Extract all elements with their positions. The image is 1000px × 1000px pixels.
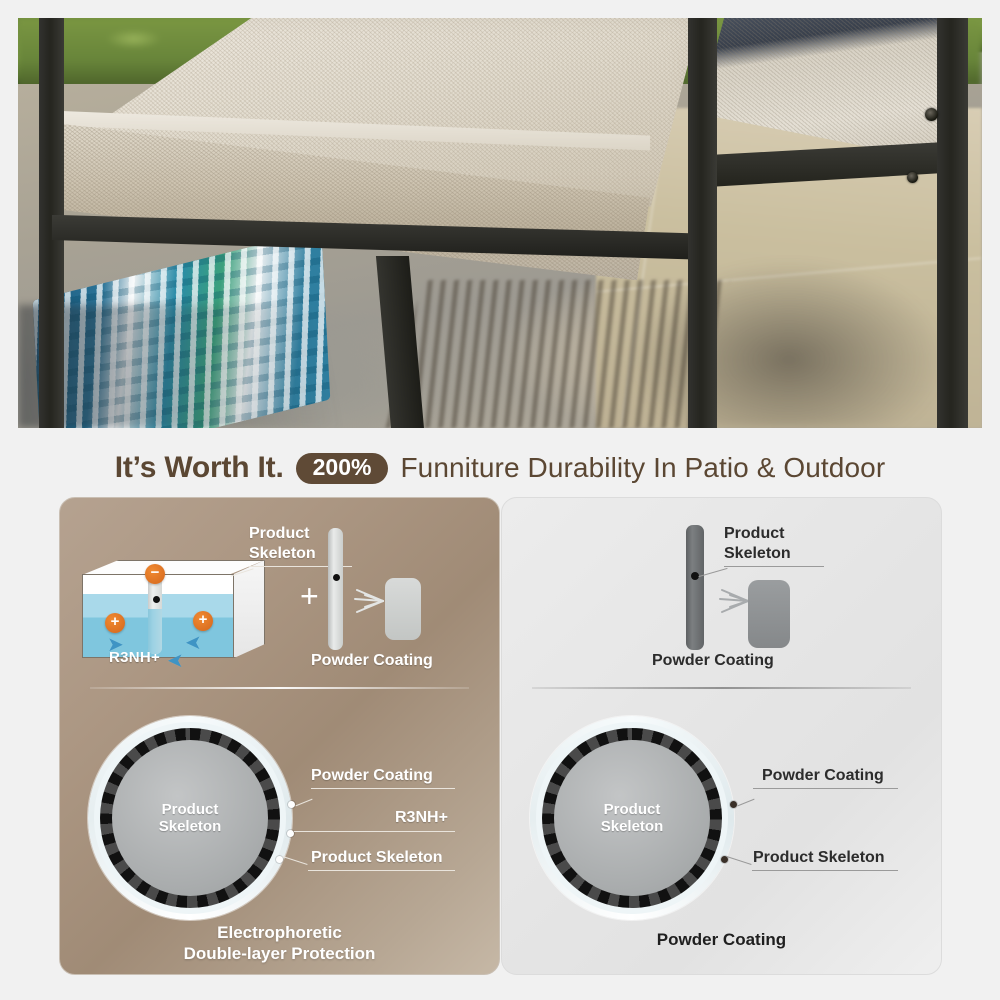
positive-ion-icon: + bbox=[105, 613, 125, 633]
right-ring-core: Product Skeleton bbox=[554, 740, 710, 896]
negative-ion-icon: − bbox=[145, 564, 165, 584]
right-product-skeleton-label-line2: Skeleton bbox=[724, 545, 791, 563]
positive-ion-icon-2: + bbox=[193, 611, 213, 631]
left-caption-line2: Double-layer Protection bbox=[184, 944, 376, 963]
left-anno-leader-1a bbox=[295, 799, 312, 807]
left-anno-dot-powder bbox=[288, 801, 295, 808]
headline-strong: It’s Worth It. bbox=[115, 451, 284, 485]
right-anno-dot-powder bbox=[730, 801, 737, 808]
flow-arrow-icon-2: ➤ bbox=[185, 633, 202, 653]
spray-gun-body-right bbox=[748, 580, 790, 648]
left-anno-leader-3b bbox=[308, 870, 455, 871]
headline-bar: It’s Worth It. 200% Funniture Durability… bbox=[0, 446, 1000, 490]
flow-arrow-icon-3: ➤ bbox=[167, 651, 184, 671]
left-product-skeleton-label-line2: Skeleton bbox=[249, 545, 316, 563]
left-cross-section: Product Skeleton bbox=[88, 716, 292, 920]
percent-badge: 200% bbox=[296, 453, 389, 484]
left-anno-leader-2a bbox=[294, 831, 312, 832]
left-panel-caption: Electrophoretic Double-layer Protection bbox=[60, 923, 499, 964]
screw-icon bbox=[925, 108, 938, 121]
right-ring-core-label: Product Skeleton bbox=[601, 801, 664, 836]
page-root: It’s Worth It. 200% Funniture Durability… bbox=[0, 0, 1000, 1000]
comparison-section: + + ➤ ➤ ➤ R3NH+ − Product Skeleton + bbox=[0, 497, 1000, 975]
right-anno-leader-2b bbox=[752, 870, 898, 871]
left-powder-coating-label: Powder Coating bbox=[311, 652, 433, 670]
right-powder-coating-label: Powder Coating bbox=[652, 652, 774, 670]
right-anno-leader-1b bbox=[753, 788, 898, 789]
spray-gun-body-left bbox=[385, 578, 421, 640]
right-cross-section: Product Skeleton bbox=[530, 716, 734, 920]
left-annotation-product-skeleton: Product Skeleton bbox=[311, 849, 443, 867]
left-rod-anchor-dot bbox=[333, 574, 340, 581]
left-anno-dot-r3nh bbox=[287, 830, 294, 837]
right-panel-caption: Powder Coating bbox=[502, 930, 941, 951]
right-product-skeleton-rod bbox=[686, 525, 704, 650]
right-product-skeleton-label-line1: Product bbox=[724, 525, 784, 543]
right-anno-leader-1a bbox=[737, 799, 754, 807]
spray-fan-icon-right bbox=[718, 586, 748, 616]
left-caption-line1: Electrophoretic bbox=[217, 923, 342, 942]
rod-anchor-dot bbox=[153, 596, 160, 603]
right-caption-line1: Powder Coating bbox=[657, 930, 786, 949]
left-annotation-r3nh: R3NH+ bbox=[395, 809, 448, 827]
tank-side-face bbox=[234, 560, 265, 658]
spray-fan-icon-left bbox=[353, 586, 383, 616]
left-ring-core-label: Product Skeleton bbox=[159, 801, 222, 836]
right-annotation-powder-coating: Powder Coating bbox=[762, 767, 884, 785]
chair-post-right bbox=[937, 18, 968, 428]
left-ring-core: Product Skeleton bbox=[112, 740, 268, 896]
right-skeleton-leader-line bbox=[724, 566, 824, 567]
left-product-skeleton-label-line1: Product bbox=[249, 525, 309, 543]
patio-chair-photo bbox=[18, 18, 982, 428]
right-annotation-product-skeleton: Product Skeleton bbox=[753, 849, 885, 867]
right-ring-core-line2: Skeleton bbox=[601, 818, 664, 835]
chair-post-middle bbox=[688, 18, 717, 428]
left-ring-core-line1: Product bbox=[162, 801, 219, 818]
left-anno-leader-1b bbox=[311, 788, 455, 789]
plus-operator-left: + bbox=[300, 580, 319, 612]
panel-divider-right bbox=[532, 687, 911, 689]
chair-shadow-center bbox=[385, 280, 730, 428]
left-ring-core-line2: Skeleton bbox=[159, 818, 222, 835]
powder-coating-panel: Product Skeleton Powder Coating bbox=[501, 497, 942, 975]
panel-divider-left bbox=[90, 687, 469, 689]
left-anno-leader-2b bbox=[311, 831, 455, 832]
electrophoretic-panel: + + ➤ ➤ ➤ R3NH+ − Product Skeleton + bbox=[59, 497, 500, 975]
electrophoresis-tank: + + ➤ ➤ ➤ R3NH+ − bbox=[82, 560, 265, 658]
left-product-skeleton-rod bbox=[328, 528, 343, 650]
headline-rest: Funniture Durability In Patio & Outdoor bbox=[400, 452, 885, 484]
left-annotation-powder-coating: Powder Coating bbox=[311, 767, 433, 785]
right-ring-core-line1: Product bbox=[604, 801, 661, 818]
